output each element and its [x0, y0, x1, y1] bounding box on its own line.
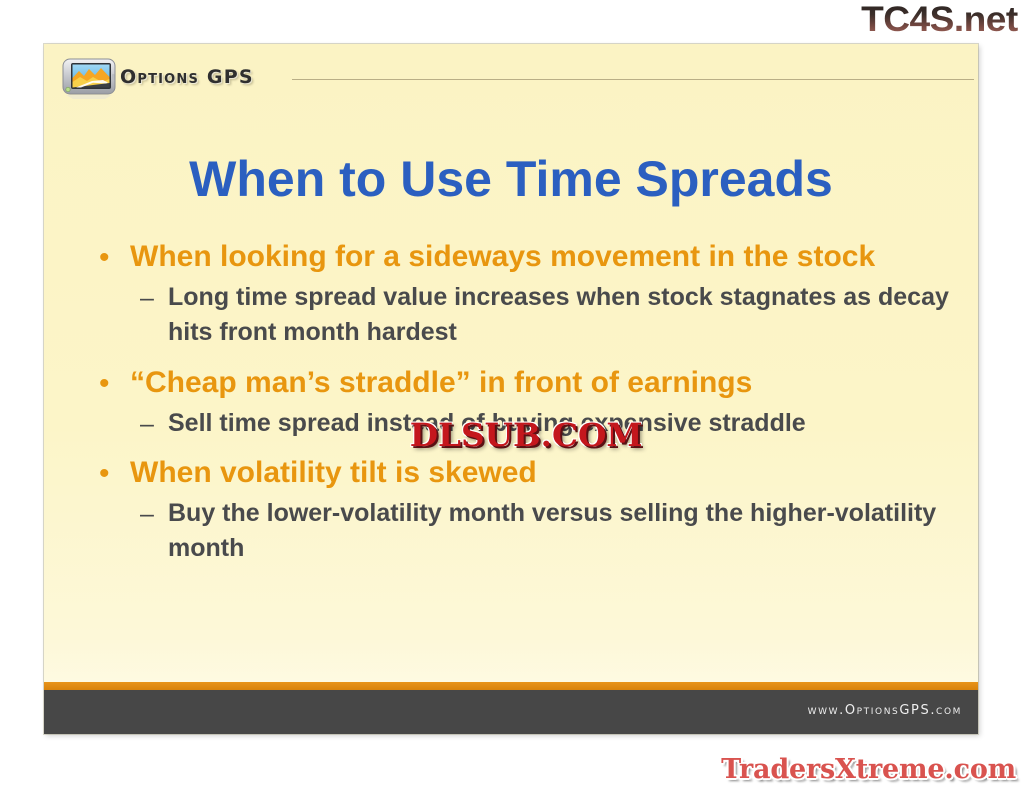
dash-marker: – [140, 496, 168, 532]
footer-url-label: www.OptionsGPS.com [808, 703, 962, 718]
bullet-marker: • [92, 364, 130, 404]
dlsub-watermark: DLSUB.COM [410, 416, 643, 454]
sub-list-item-label: Buy the lower-volatility month versus se… [168, 496, 952, 566]
dash-marker: – [140, 280, 168, 316]
gps-device-icon [62, 58, 116, 101]
accent-bar [44, 682, 978, 690]
sub-list-item: – Buy the lower-volatility month versus … [140, 496, 952, 566]
presentation-slide: Options GPS When to Use Time Spreads • W… [44, 44, 978, 734]
sub-list-item-label: Long time spread value increases when st… [168, 280, 952, 350]
sub-list-item: – Long time spread value increases when … [140, 280, 952, 350]
bullet-marker: • [92, 238, 130, 278]
tc4s-watermark: TC4S.net [861, 2, 1018, 37]
slide-header: Options GPS [44, 44, 978, 106]
brand-wordmark: Options GPS [120, 66, 254, 88]
bullet-list: • When looking for a sideways movement i… [92, 236, 952, 566]
list-item: • When looking for a sideways movement i… [92, 238, 952, 278]
list-item: • When volatility tilt is skewed [92, 454, 952, 494]
list-item-label: “Cheap man’s straddle” in front of earni… [130, 364, 952, 402]
dash-marker: – [140, 406, 168, 442]
bullet-marker: • [92, 454, 130, 494]
list-item: • “Cheap man’s straddle” in front of ear… [92, 364, 952, 404]
list-item-label: When volatility tilt is skewed [130, 454, 952, 492]
page-title: When to Use Time Spreads [44, 150, 978, 208]
tradersxtreme-logo: TradersXtreme.com [721, 754, 1016, 785]
header-divider [292, 79, 974, 80]
slide-footer: www.OptionsGPS.com [44, 690, 978, 734]
list-item-label: When looking for a sideways movement in … [130, 238, 952, 276]
